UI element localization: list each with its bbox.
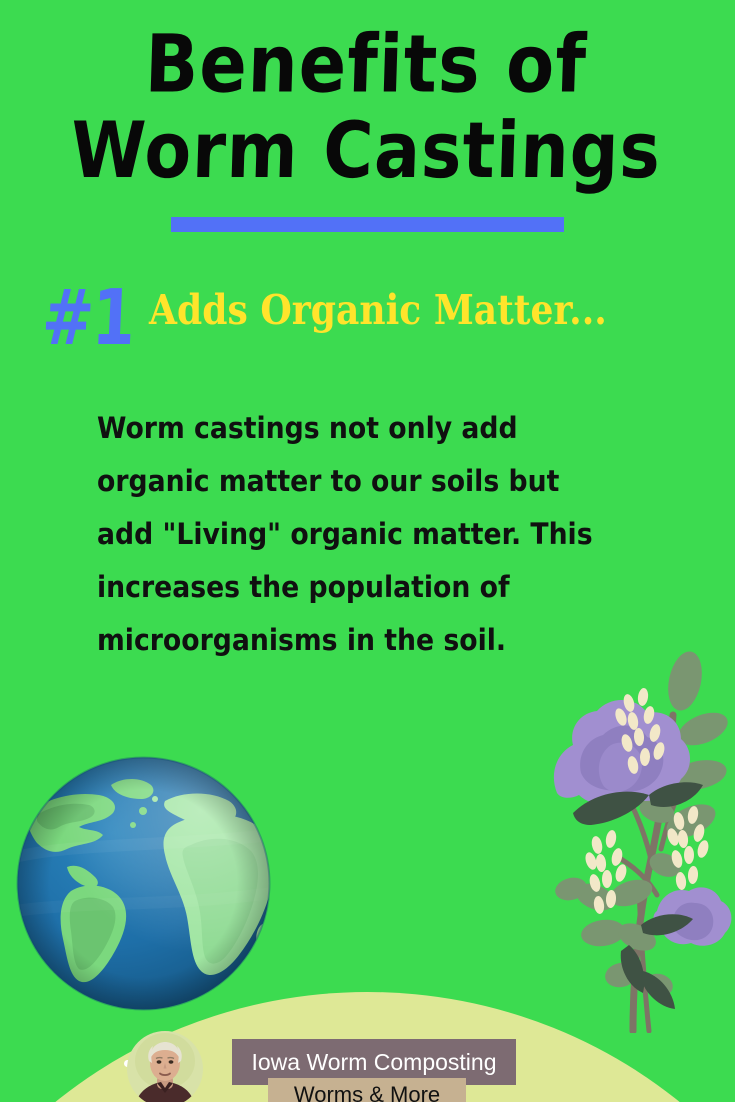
earth-globe-icon	[15, 755, 272, 1012]
benefit-heading-row: #1 Adds Organic Matter...	[0, 272, 735, 362]
tagline-label: Worms & More	[268, 1078, 466, 1102]
benefit-body-text: Worm castings not only add organic matte…	[97, 402, 612, 667]
benefit-number: #1	[40, 272, 135, 365]
purple-flowers-icon	[533, 645, 735, 1033]
tagline-bar: Worms & More	[268, 1078, 466, 1102]
divider-bar	[171, 217, 564, 232]
avatar-photo-svg	[127, 1031, 203, 1102]
page-title: Benefits of Worm Castings	[0, 14, 735, 190]
avatar	[127, 1031, 203, 1102]
benefit-subtitle: Adds Organic Matter...	[149, 284, 607, 336]
purple-flowers-svg	[533, 645, 735, 1033]
poster-canvas: Benefits of Worm Castings #1 Adds Organi…	[0, 0, 735, 1102]
title-line-1: Benefits of	[0, 14, 735, 114]
title-line-2: Worm Castings	[0, 102, 735, 202]
earth-globe-svg	[15, 755, 272, 1012]
